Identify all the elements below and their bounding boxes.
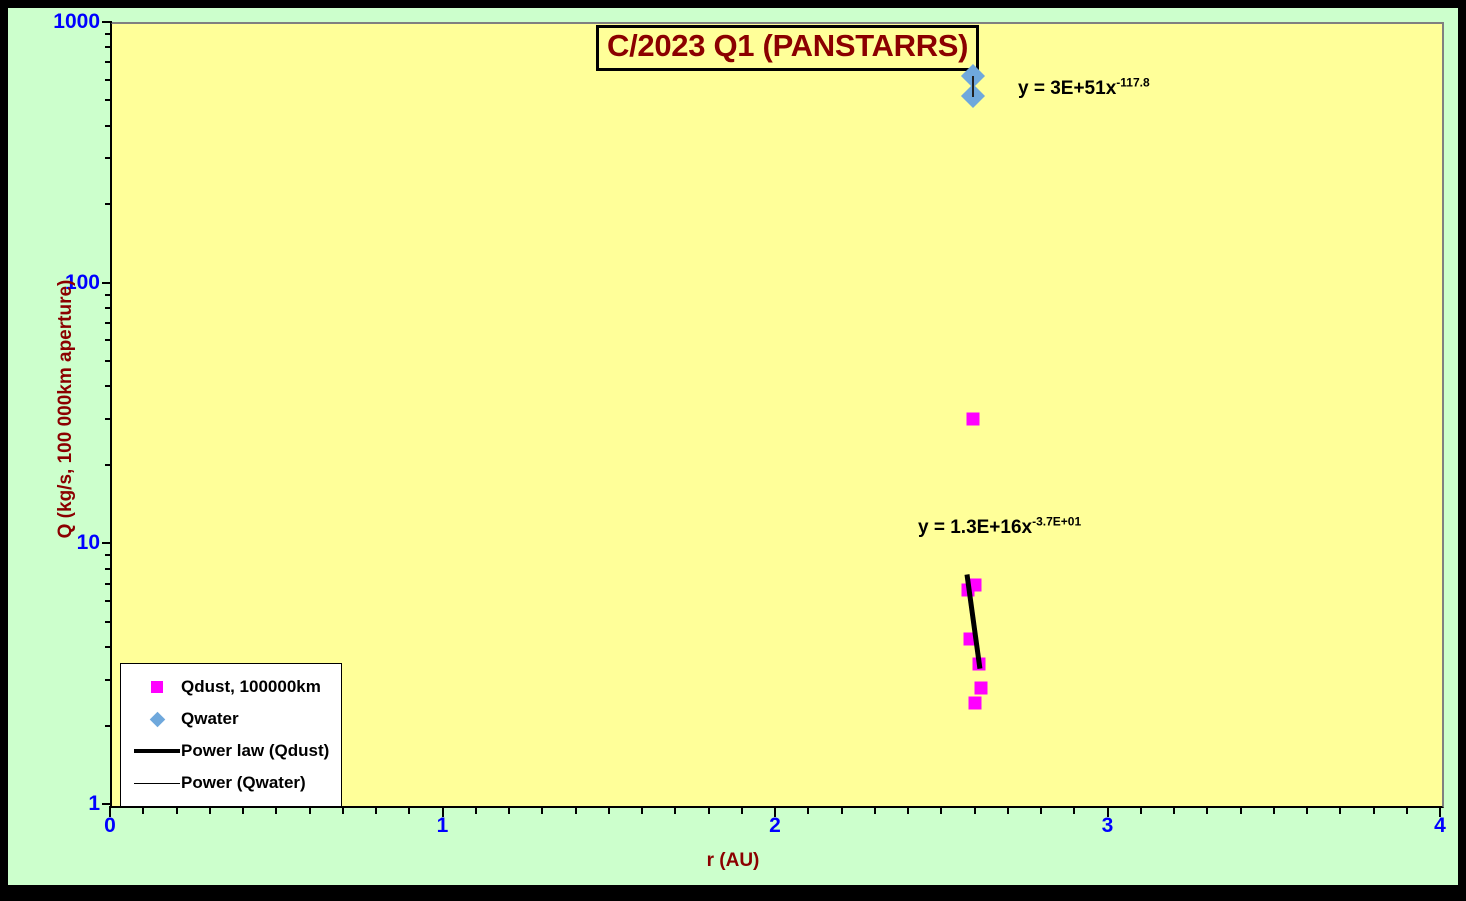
data-point-qdust xyxy=(966,412,979,425)
x-tick-minor xyxy=(508,806,510,814)
x-tick-minor xyxy=(1140,806,1142,814)
x-tick-minor xyxy=(275,806,277,814)
x-tick-minor xyxy=(1073,806,1075,814)
legend-label-qdust: Qdust, 100000km xyxy=(181,677,321,697)
y-tick-label-1000: 1000 xyxy=(53,10,100,34)
x-tick-minor xyxy=(1373,806,1375,814)
x-axis-title: r (AU) xyxy=(8,850,1458,872)
x-tick-minor xyxy=(142,806,144,814)
y-tick-minor xyxy=(105,600,112,602)
y-tick-minor xyxy=(105,79,112,81)
x-tick-minor xyxy=(874,806,876,814)
x-tick-minor xyxy=(375,806,377,814)
thin-line-key-icon xyxy=(133,783,181,784)
x-tick-minor xyxy=(541,806,543,814)
x-tick-minor xyxy=(641,806,643,814)
y-tick-minor xyxy=(105,99,112,101)
trendline-power-qwater xyxy=(972,76,974,97)
x-tick-minor xyxy=(342,806,344,814)
y-tick-minor xyxy=(105,322,112,324)
x-tick-minor xyxy=(940,806,942,814)
equation-qdust-body: y = 1.3E+16x xyxy=(918,517,1032,538)
y-tick-minor xyxy=(105,294,112,296)
y-tick-major xyxy=(102,21,112,23)
y-tick-minor xyxy=(105,725,112,727)
legend-label-qwater: Qwater xyxy=(181,709,239,729)
y-tick-minor xyxy=(105,33,112,35)
y-tick-major xyxy=(102,282,112,284)
x-tick-minor xyxy=(575,806,577,814)
thick-line-key-icon xyxy=(133,749,181,753)
y-tick-minor xyxy=(105,61,112,63)
x-tick-minor xyxy=(1007,806,1009,814)
y-axis-tick-labels: 1000 100 10 1 xyxy=(8,8,100,885)
y-tick-minor xyxy=(105,203,112,205)
x-tick-minor xyxy=(708,806,710,814)
y-tick-minor xyxy=(105,307,112,309)
x-tick-minor xyxy=(309,806,311,814)
x-tick-minor xyxy=(608,806,610,814)
x-tick-minor xyxy=(1240,806,1242,814)
x-tick-minor xyxy=(1406,806,1408,814)
equation-qwater-exponent: -117.8 xyxy=(1116,76,1149,90)
legend-item-power-qwater[interactable]: Power (Qwater) xyxy=(121,767,341,799)
x-tick-minor xyxy=(1206,806,1208,814)
y-axis-title: Q (kg/s, 100 000km aperture) xyxy=(55,280,76,539)
data-point-qdust xyxy=(975,682,988,695)
y-tick-major xyxy=(102,542,112,544)
equation-qwater-body: y = 3E+51x xyxy=(1018,78,1116,99)
y-tick-minor xyxy=(105,554,112,556)
y-tick-minor xyxy=(105,464,112,466)
x-tick-minor xyxy=(1040,806,1042,814)
x-tick-minor xyxy=(475,806,477,814)
y-tick-minor xyxy=(105,621,112,623)
x-tick-minor xyxy=(1173,806,1175,814)
legend-item-qdust[interactable]: Qdust, 100000km xyxy=(121,671,341,703)
x-tick-label-1: 1 xyxy=(437,814,449,838)
x-tick-minor xyxy=(176,806,178,814)
y-tick-minor xyxy=(105,339,112,341)
legend-item-power-law-qdust[interactable]: Power law (Qdust) xyxy=(121,735,341,767)
x-tick-minor xyxy=(209,806,211,814)
y-tick-minor xyxy=(105,46,112,48)
y-tick-minor xyxy=(105,568,112,570)
chart-title: C/2023 Q1 (PANSTARRS) xyxy=(596,25,979,71)
x-tick-minor xyxy=(674,806,676,814)
equation-qwater: y = 3E+51x-117.8 xyxy=(1018,78,1150,100)
x-tick-minor xyxy=(1339,806,1341,814)
chart-figure: C/2023 Q1 (PANSTARRS) 1000 100 10 1 0123… xyxy=(8,8,1458,885)
diamond-marker-key-icon xyxy=(133,714,181,725)
x-tick-minor xyxy=(907,806,909,814)
legend-item-qwater[interactable]: Qwater xyxy=(121,703,341,735)
y-tick-minor xyxy=(105,418,112,420)
x-tick-label-0: 0 xyxy=(104,814,116,838)
y-tick-minor xyxy=(105,583,112,585)
y-tick-minor xyxy=(105,125,112,127)
x-tick-minor xyxy=(741,806,743,814)
y-tick-major xyxy=(102,803,112,805)
x-tick-minor xyxy=(807,806,809,814)
x-tick-minor xyxy=(841,806,843,814)
data-point-qdust xyxy=(968,696,981,709)
y-tick-label-10: 10 xyxy=(77,531,100,555)
y-axis-title-wrapper: Q (kg/s, 100 000km aperture) xyxy=(55,59,77,759)
x-tick-minor xyxy=(974,806,976,814)
x-tick-label-4: 4 xyxy=(1434,814,1446,838)
equation-qdust-exponent: -3.7E+01 xyxy=(1032,515,1081,529)
y-tick-minor xyxy=(105,646,112,648)
x-tick-minor xyxy=(408,806,410,814)
x-tick-minor xyxy=(242,806,244,814)
chart-legend: Qdust, 100000km Qwater Power law (Qdust)… xyxy=(120,663,342,807)
x-tick-minor xyxy=(1273,806,1275,814)
y-tick-label-1: 1 xyxy=(88,792,100,816)
x-tick-label-3: 3 xyxy=(1102,814,1114,838)
y-tick-minor xyxy=(105,360,112,362)
x-tick-minor xyxy=(1306,806,1308,814)
equation-qdust: y = 1.3E+16x-3.7E+01 xyxy=(918,517,1081,539)
y-tick-minor xyxy=(105,679,112,681)
legend-label-power-law-qdust: Power law (Qdust) xyxy=(181,741,329,761)
legend-label-power-qwater: Power (Qwater) xyxy=(181,773,306,793)
y-tick-minor xyxy=(105,385,112,387)
square-marker-key-icon xyxy=(133,681,181,693)
x-tick-label-2: 2 xyxy=(769,814,781,838)
y-tick-minor xyxy=(105,157,112,159)
